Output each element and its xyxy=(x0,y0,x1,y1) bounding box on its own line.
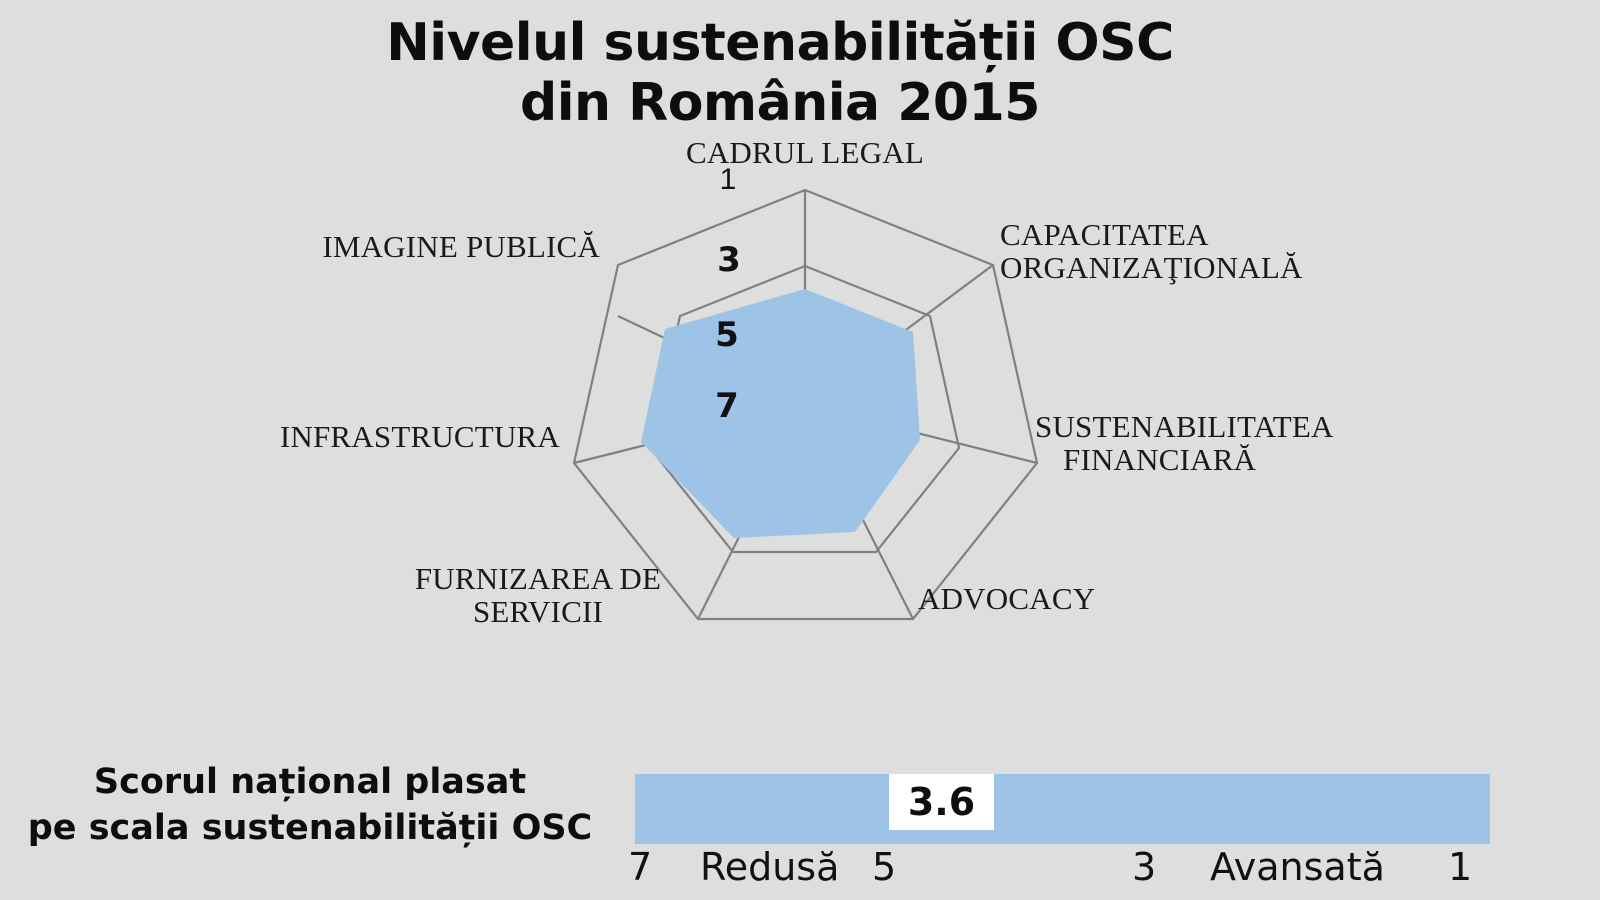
radial-tick-7: 7 xyxy=(702,386,752,426)
scale-tick-3: 3 xyxy=(1132,845,1156,889)
axis-label-furnizarea-de-servicii: FURNIZAREA DE SERVICII xyxy=(378,562,698,629)
radial-tick-1: 1 xyxy=(706,163,750,197)
scale-tick-redusa: Redusă xyxy=(700,845,839,889)
scale-tick-avansata: Avansată xyxy=(1210,845,1385,889)
title-line-1: Nivelul sustenabilității OSC xyxy=(0,14,1560,74)
axis-label-advocacy: ADVOCACY xyxy=(918,582,1238,615)
series-area-scor-2015 xyxy=(641,289,920,538)
radial-tick-5: 5 xyxy=(702,315,752,355)
radial-tick-3: 3 xyxy=(704,240,754,280)
axis-label-cadrul-legal: CADRUL LEGAL xyxy=(575,136,1035,169)
scale-tick-row: 7 Redusă 5 3 Avansată 1 xyxy=(0,845,1600,900)
radar-chart: CADRUL LEGAL CAPACITATEA ORGANIZAŢIONALĂ… xyxy=(0,130,1600,670)
national-score-marker: 3.6 xyxy=(889,774,994,830)
page-title: Nivelul sustenabilității OSC din România… xyxy=(0,14,1560,134)
radar-plot-svg xyxy=(0,130,1600,670)
axis-label-capacitatea-organizationala: CAPACITATEA ORGANIZAŢIONALĂ xyxy=(1000,218,1420,285)
axis-label-imagine-publica: IMAGINE PUBLICĂ xyxy=(180,230,600,263)
title-line-2: din România 2015 xyxy=(0,74,1560,134)
axis-label-infrastructura: INFRASTRUCTURA xyxy=(180,420,560,453)
axis-label-sustenabilitatea-financiara: SUSTENABILITATEA FINANCIARĂ xyxy=(1035,410,1455,477)
scale-caption: Scorul național plasat pe scala sustenab… xyxy=(10,760,610,851)
radar-chart-slide: Nivelul sustenabilității OSC din România… xyxy=(0,0,1600,900)
scale-caption-line-1: Scorul național plasat xyxy=(10,760,610,806)
scale-tick-5: 5 xyxy=(872,845,896,889)
sustainability-scale-bar: 3.6 xyxy=(635,774,1490,844)
scale-tick-7: 7 xyxy=(628,845,652,889)
scale-tick-1: 1 xyxy=(1448,845,1472,889)
